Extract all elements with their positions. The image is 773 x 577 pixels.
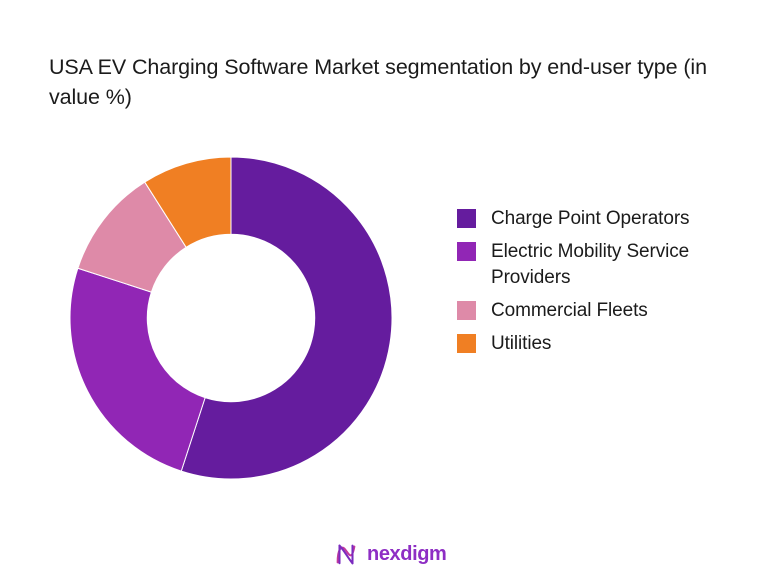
donut-slice[interactable] bbox=[70, 268, 205, 471]
legend-item-commercial-fleets[interactable]: Commercial Fleets bbox=[457, 298, 773, 324]
legend-swatch-icon bbox=[457, 334, 476, 353]
chart-title: USA EV Charging Software Market segmenta… bbox=[49, 52, 729, 112]
legend-swatch-icon bbox=[457, 209, 476, 228]
legend-item-label: Charge Point Operators bbox=[491, 206, 689, 232]
nexdigm-wave-mark-icon bbox=[333, 541, 359, 567]
brand-name: nexdigm bbox=[367, 541, 446, 567]
legend-item-label: Utilities bbox=[491, 331, 551, 357]
legend-swatch-icon bbox=[457, 242, 476, 261]
legend-item-label: Electric Mobility Service Providers bbox=[491, 239, 771, 291]
donut-chart bbox=[70, 157, 392, 479]
legend-item-charge-point-operators[interactable]: Charge Point Operators bbox=[457, 206, 773, 232]
donut-chart-svg bbox=[70, 157, 392, 479]
chart-legend: Charge Point Operators Electric Mobility… bbox=[457, 206, 773, 364]
donut-slice-group bbox=[70, 157, 392, 479]
legend-item-electric-mobility-service-providers[interactable]: Electric Mobility Service Providers bbox=[457, 239, 773, 291]
legend-swatch-icon bbox=[457, 301, 476, 320]
legend-item-label: Commercial Fleets bbox=[491, 298, 648, 324]
brand-logo: nexdigm bbox=[333, 541, 446, 567]
legend-item-utilities[interactable]: Utilities bbox=[457, 331, 773, 357]
